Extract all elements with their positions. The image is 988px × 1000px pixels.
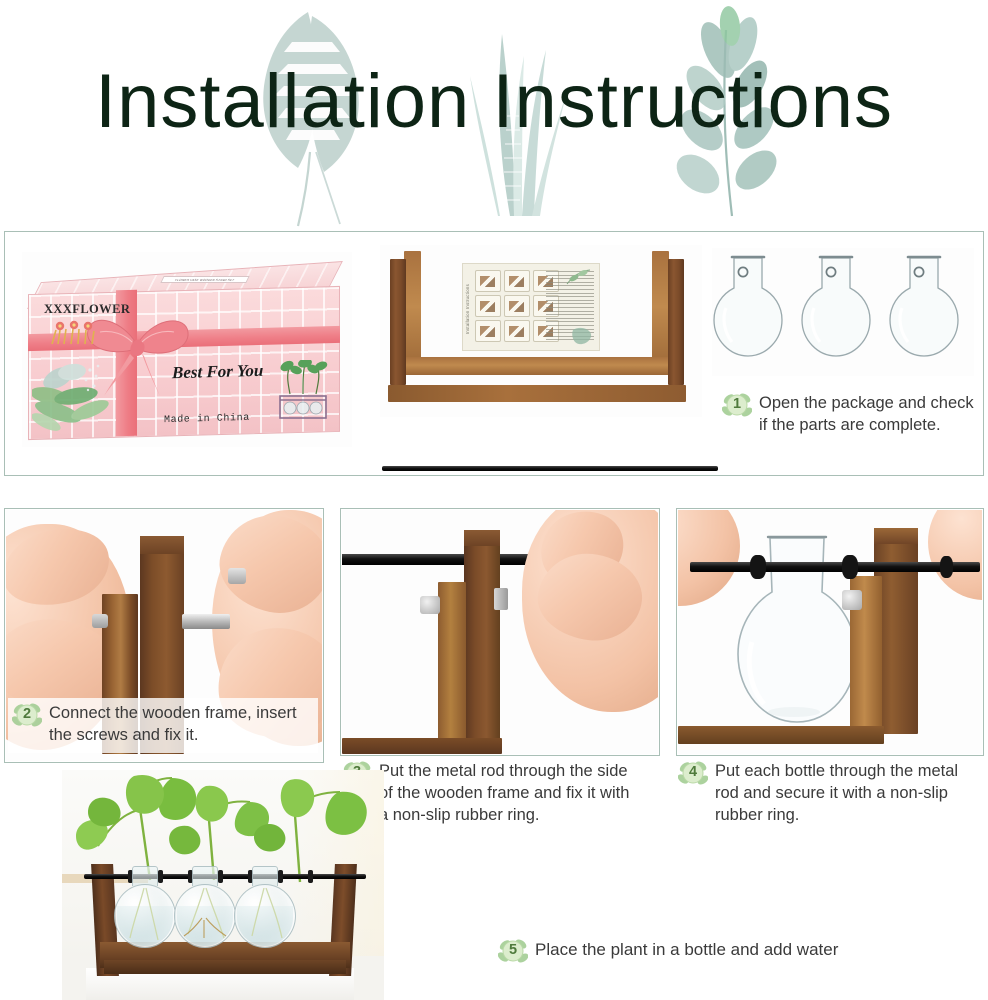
rod-ring-7 — [308, 870, 313, 883]
wood-upright-front — [464, 530, 500, 746]
step-text: Place the plant in a bottle and add wate… — [535, 938, 838, 962]
card-thumb — [475, 320, 501, 342]
glass-bottles-image — [712, 248, 974, 376]
plant-roots — [110, 888, 310, 950]
wood-upright-back — [438, 582, 466, 746]
metal-rod-part — [382, 466, 718, 471]
step-text: Connect the wooden frame, insert the scr… — [49, 702, 314, 747]
vase-neck-1 — [132, 866, 158, 886]
screw-head-left — [92, 614, 108, 628]
left-hand — [678, 510, 740, 606]
leaf-badge-icon: 4 — [678, 758, 708, 788]
right-hand — [928, 510, 982, 600]
vase-neck-3 — [252, 866, 278, 886]
screw-head-right — [228, 568, 246, 584]
box-brand-label: XXXFLOWER — [44, 302, 130, 317]
step-3-image — [342, 510, 658, 754]
box-top-label: FLOWER VASE WOODEN STAND SET — [160, 276, 249, 283]
vase-neck-2 — [192, 866, 218, 886]
step-text: Put the metal rod through the side of th… — [379, 760, 642, 827]
card-thumb — [504, 295, 530, 317]
wood-base — [342, 738, 502, 754]
leaf-badge-icon: 1 — [722, 390, 752, 420]
instruction-card: Installation Instructions — [462, 263, 600, 351]
screw-head-left — [420, 596, 440, 614]
stand-base-front-edge — [104, 960, 346, 974]
brand-flower-icon — [46, 318, 104, 344]
wood-upright-front-right — [668, 259, 684, 385]
glass-bottle-1 — [712, 248, 784, 368]
screw-inserted — [182, 614, 230, 629]
glass-bottle-3 — [888, 248, 960, 368]
rubber-ring-left — [750, 555, 766, 579]
rod-ring-2 — [158, 870, 163, 883]
card-thumb — [504, 270, 530, 292]
card-stamp-icon — [571, 326, 593, 346]
plank-top-endgrain — [874, 528, 918, 544]
page-header: Installation Instructions — [0, 0, 988, 228]
step-4-image — [678, 510, 982, 754]
glass-bottle-2 — [800, 248, 872, 368]
step-1-caption: 1 Open the package and check if the part… — [722, 392, 974, 437]
card-thumb — [504, 320, 530, 342]
page-title: Installation Instructions — [0, 62, 988, 142]
screw-head-right — [494, 588, 508, 610]
rod-ring-6 — [278, 870, 283, 883]
wood-base-front — [388, 385, 686, 402]
card-thumb — [475, 270, 501, 292]
rubber-ring-right — [842, 555, 858, 579]
leaf-badge-icon: 5 — [498, 936, 528, 966]
screw-head — [842, 590, 862, 610]
step-5-caption: 5 Place the plant in a bottle and add wa… — [498, 938, 968, 966]
step-4-caption: 4 Put each bottle through the metal rod … — [678, 760, 978, 827]
card-thumb — [475, 295, 501, 317]
plank-top-endgrain — [464, 530, 500, 546]
card-leaf-icon — [565, 268, 591, 286]
metal-rod — [84, 874, 366, 879]
rubber-ring-end — [940, 556, 953, 578]
rod-ring-4 — [218, 870, 223, 883]
plank-top-endgrain — [140, 536, 184, 554]
box-product-illustration — [274, 360, 332, 422]
step-number: 4 — [678, 758, 708, 788]
box-botanical-art — [32, 356, 132, 434]
leaf-badge-icon: 2 — [12, 700, 42, 730]
wood-base-back — [404, 357, 669, 375]
metal-rod — [690, 562, 980, 572]
frame-parts-image: Installation Instructions — [380, 245, 702, 417]
step-text: Open the package and check if the parts … — [759, 392, 974, 437]
step-number: 5 — [498, 936, 528, 966]
step-2-caption: 2 Connect the wooden frame, insert the s… — [8, 698, 318, 753]
box-tagline: Best For You — [172, 361, 263, 383]
instruction-card-label: Installation Instructions — [465, 284, 470, 334]
installation-instructions-page: Installation Instructions FLOWER VASE WO… — [0, 0, 988, 1000]
step-number: 2 — [12, 700, 42, 730]
package-box-image: FLOWER VASE WOODEN STAND SET XXXFLOWER — [22, 252, 352, 447]
wood-base — [678, 726, 884, 744]
final-product-image — [62, 770, 384, 1000]
step-number: 1 — [722, 390, 752, 420]
wood-upright-front-left — [390, 259, 406, 385]
step-text: Put each bottle through the metal rod an… — [715, 760, 978, 827]
box-origin-label: Made in China — [164, 413, 250, 426]
step-3-caption: 3 Put the metal rod through the side of … — [342, 760, 642, 827]
